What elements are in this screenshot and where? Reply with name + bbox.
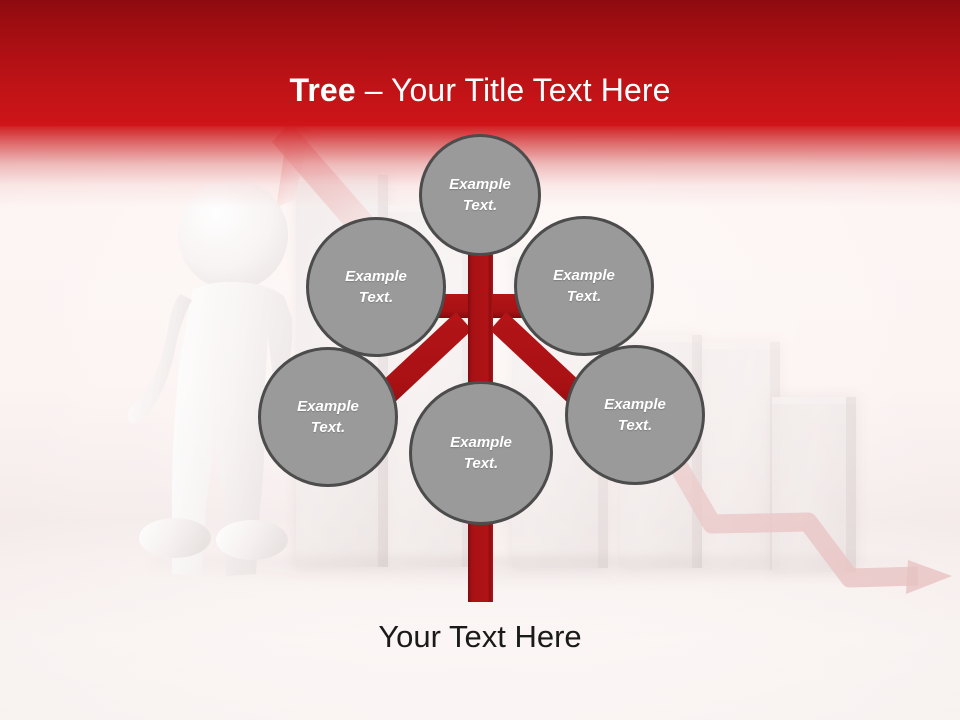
- tree-node-label: ExampleText.: [422, 432, 541, 474]
- slide-canvas: Tree – Your Title Text Here: [0, 0, 960, 720]
- tree-node-label: ExampleText.: [318, 266, 433, 308]
- tree-node-label: ExampleText.: [577, 394, 692, 436]
- tree-node-label: ExampleText.: [430, 174, 530, 216]
- tree-node-center[interactable]: ExampleText.: [409, 381, 553, 525]
- tree-node-label: ExampleText.: [526, 265, 641, 307]
- tree-node-left[interactable]: ExampleText.: [306, 217, 446, 357]
- tree-node-right[interactable]: ExampleText.: [514, 216, 654, 356]
- tree-node-lower-right[interactable]: ExampleText.: [565, 345, 705, 485]
- tree-node-label: ExampleText.: [270, 396, 385, 438]
- tree-branches: [0, 0, 960, 720]
- bottom-caption: Your Text Here: [0, 618, 960, 656]
- tree-node-top[interactable]: ExampleText.: [419, 134, 541, 256]
- tree-node-lower-left[interactable]: ExampleText.: [258, 347, 398, 487]
